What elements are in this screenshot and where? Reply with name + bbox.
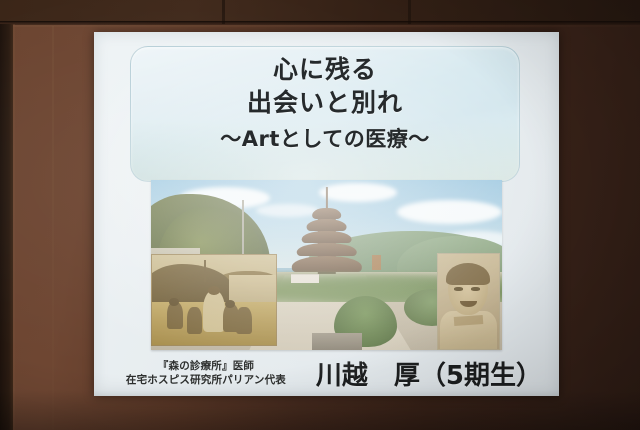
wall-column-seam bbox=[52, 26, 54, 430]
wall-left-seam bbox=[13, 24, 15, 430]
child-portrait-photo-inset bbox=[437, 253, 500, 350]
wall-seam-vertical-left bbox=[222, 0, 225, 24]
sepia-family-photo-inset bbox=[151, 254, 277, 346]
child-photo-collar bbox=[454, 315, 484, 326]
child-photo-eye bbox=[454, 287, 463, 291]
inset-person bbox=[187, 307, 202, 334]
presenter-affiliation: 『森の診療所』医師 在宅ホスピス研究所パリアン代表 bbox=[112, 359, 300, 387]
wall-upper-panel bbox=[0, 0, 640, 22]
slide-content: 心に残る 出会いと別れ 〜Artとしての医療〜 bbox=[94, 32, 559, 396]
photo-stone-basin bbox=[312, 333, 361, 350]
slide-title-line-2: 出会いと別れ bbox=[247, 89, 403, 116]
slide-credit-block: 『森の診療所』医師 在宅ホスピス研究所パリアン代表 川越 厚（5期生） bbox=[112, 352, 542, 394]
inset-person bbox=[203, 291, 225, 332]
presenter-name: 川越 厚（5期生） bbox=[316, 355, 542, 392]
child-photo-eye bbox=[471, 287, 480, 291]
pagoda-roof bbox=[312, 208, 341, 219]
pagoda-roof bbox=[296, 243, 356, 256]
projected-slide-photo-scene: 心に残る 出会いと別れ 〜Artとしての医療〜 bbox=[0, 0, 640, 430]
affiliation-line-2: 在宅ホスピス研究所パリアン代表 bbox=[112, 373, 300, 387]
wall-seam-highlight bbox=[0, 25, 640, 27]
photo-garden-post bbox=[372, 255, 381, 270]
inset-spire bbox=[204, 260, 206, 282]
slide-title-line-1: 心に残る bbox=[273, 56, 377, 83]
pagoda-roof bbox=[306, 219, 347, 230]
photo-bench bbox=[291, 274, 319, 284]
slide-subtitle: 〜Artとしての医療〜 bbox=[220, 128, 430, 151]
affiliation-line-1: 『森の診療所』医師 bbox=[112, 359, 300, 373]
inset-person bbox=[236, 307, 252, 334]
photo-cloud bbox=[397, 200, 502, 224]
pagoda-roof bbox=[301, 231, 352, 243]
slide-title-box: 心に残る 出会いと別れ 〜Artとしての医療〜 bbox=[130, 46, 520, 182]
wall-left-dark-edge bbox=[0, 24, 13, 430]
projection-screen: 心に残る 出会いと別れ 〜Artとしての医療〜 bbox=[94, 32, 559, 396]
wall-seam-vertical-right bbox=[408, 0, 411, 24]
wall-bottom-shadow bbox=[0, 390, 640, 430]
